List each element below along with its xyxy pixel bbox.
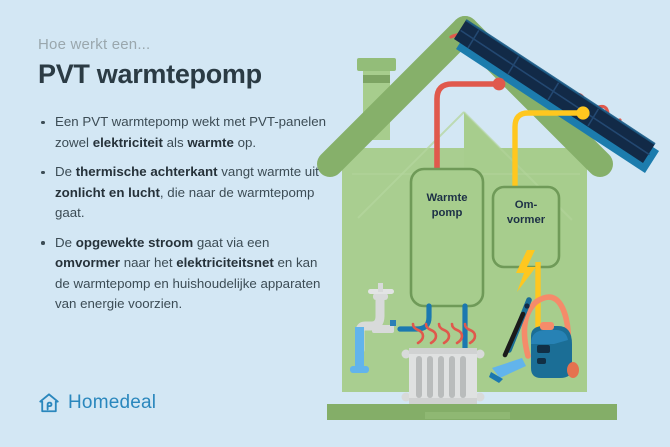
bullet-emphasis: elektriciteit [93, 135, 163, 150]
heat-pump-label-line2: pomp [416, 206, 478, 221]
bullet-emphasis: warmte [187, 135, 234, 150]
heat-pump-label: Warmte pomp [416, 191, 478, 221]
inverter-label-line1: Om- [497, 198, 555, 213]
text-panel: Hoe werkt een... PVT warmtepomp Een PVT … [38, 36, 328, 324]
bullet-text: als [163, 135, 187, 150]
inverter-label-line2: vormer [497, 213, 555, 228]
pipe-connector-dot [493, 78, 506, 91]
cable-connector-dot [576, 106, 589, 119]
house-logo-icon [38, 392, 60, 414]
bullet-emphasis: zonlicht en lucht [55, 185, 160, 200]
bullet-text: De [55, 164, 76, 179]
base-highlight [425, 412, 510, 419]
homedeal-logo[interactable]: Homedeal [38, 392, 156, 414]
heat-pump-unit-icon [411, 169, 483, 306]
page-title: PVT warmtepomp [38, 59, 328, 90]
list-item: Een PVT warmtepomp wekt met PVT-panelen … [38, 112, 328, 153]
bullet-text: op. [234, 135, 256, 150]
bullet-text: De [55, 235, 76, 250]
bullet-emphasis: omvormer [55, 255, 120, 270]
list-item: De thermische achterkant vangt warmte ui… [38, 162, 328, 224]
bullet-list: Een PVT warmtepomp wekt met PVT-panelen … [38, 112, 328, 315]
heat-pump-label-line1: Warmte [416, 191, 478, 206]
bullet-text: vangt warmte uit [218, 164, 319, 179]
logo-wordmark: Homedeal [68, 392, 156, 414]
bullet-emphasis: thermische achterkant [76, 164, 218, 179]
radiator-icon [402, 348, 485, 404]
inverter-label: Om- vormer [497, 198, 555, 228]
bullet-emphasis: elektriciteitsnet [176, 255, 274, 270]
list-item: De opgewekte stroom gaat via een omvorme… [38, 233, 328, 315]
kicker-text: Hoe werkt een... [38, 36, 328, 53]
bullet-emphasis: opgewekte stroom [76, 235, 193, 250]
bullet-text: gaat via een [193, 235, 269, 250]
infographic-canvas: Warmte pomp Om- vormer Hoe werkt een... … [0, 0, 670, 447]
bullet-text: naar het [120, 255, 176, 270]
